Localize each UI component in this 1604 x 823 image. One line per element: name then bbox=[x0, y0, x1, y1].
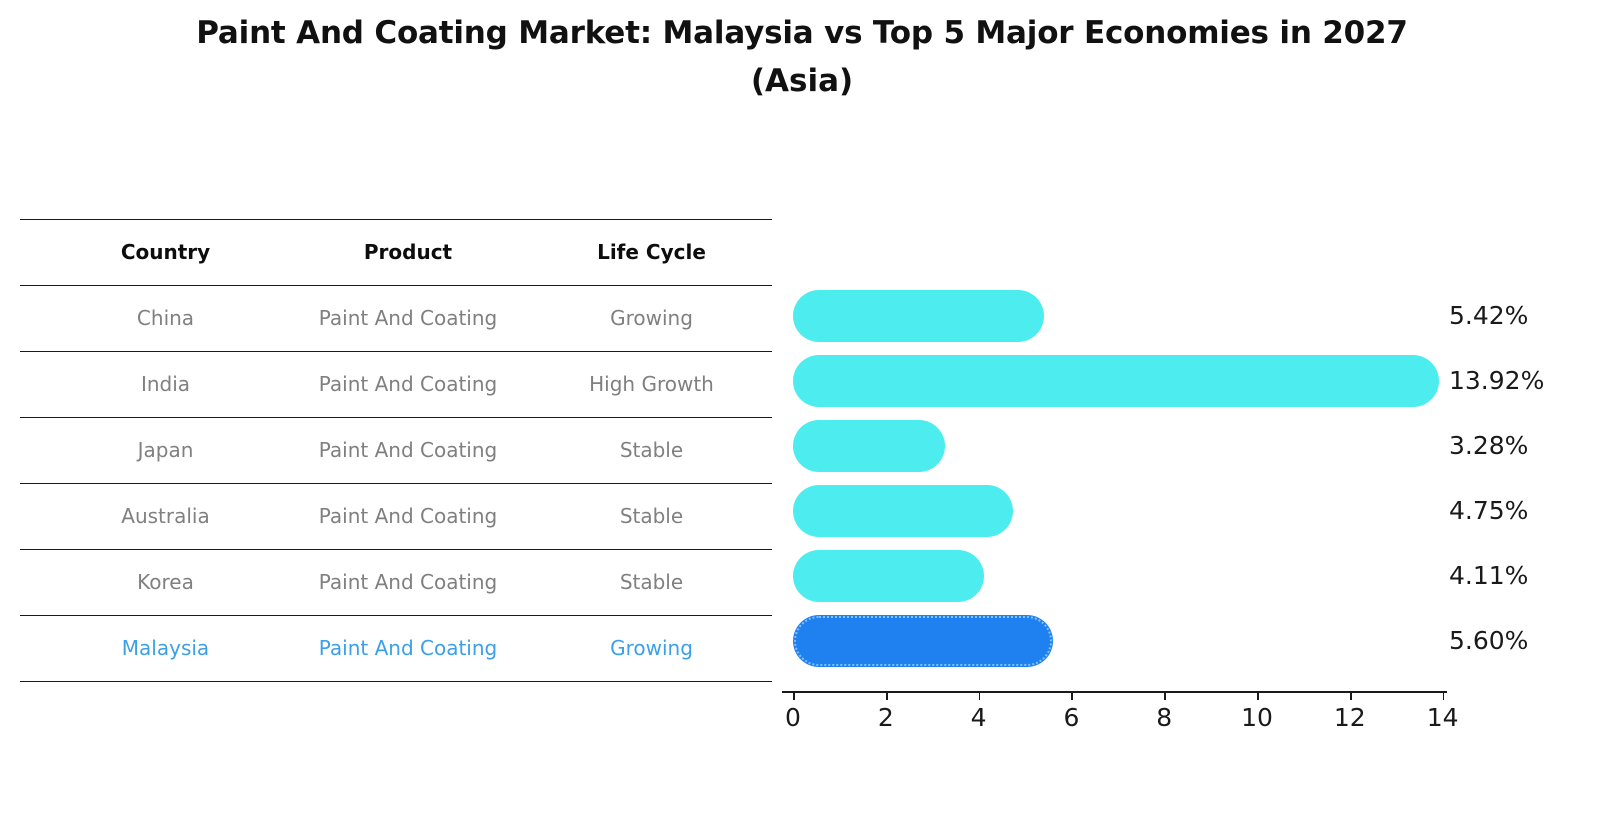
table-row[interactable]: Australia Paint And Coating Stable bbox=[20, 483, 772, 549]
x-tick-label: 4 bbox=[949, 701, 1009, 735]
page-subtitle: (Asia) bbox=[0, 62, 1604, 102]
x-tick-label: 14 bbox=[1413, 701, 1473, 735]
x-tick bbox=[1257, 691, 1259, 700]
cell-product: Paint And Coating bbox=[283, 352, 533, 417]
cell-life-cycle: Growing bbox=[533, 616, 770, 681]
cell-country: Japan bbox=[48, 418, 283, 483]
x-tick bbox=[979, 691, 981, 700]
x-tick bbox=[793, 691, 795, 700]
table-row[interactable]: China Paint And Coating Growing bbox=[20, 285, 772, 351]
x-axis-line bbox=[782, 691, 1447, 693]
column-header-life-cycle: Life Cycle bbox=[533, 220, 770, 285]
cell-country: Australia bbox=[48, 484, 283, 549]
x-tick bbox=[1071, 691, 1073, 700]
bar[interactable] bbox=[793, 290, 1044, 342]
x-tick-label: 8 bbox=[1134, 701, 1194, 735]
x-tick bbox=[886, 691, 888, 700]
page-title: Paint And Coating Market: Malaysia vs To… bbox=[0, 14, 1604, 54]
x-tick-label: 2 bbox=[856, 701, 916, 735]
table-row[interactable]: Korea Paint And Coating Stable bbox=[20, 549, 772, 615]
cell-country: India bbox=[48, 352, 283, 417]
table-row-highlighted[interactable]: Malaysia Paint And Coating Growing bbox=[20, 615, 772, 681]
cell-country: China bbox=[48, 286, 283, 351]
table-header-row: Country Product Life Cycle bbox=[20, 219, 772, 285]
title-block: Paint And Coating Market: Malaysia vs To… bbox=[0, 14, 1604, 101]
cell-life-cycle: High Growth bbox=[533, 352, 770, 417]
bar-value-label: 4.11% bbox=[1449, 550, 1528, 602]
bar-highlighted[interactable] bbox=[793, 615, 1053, 667]
cell-country: Malaysia bbox=[48, 616, 283, 681]
bar[interactable] bbox=[793, 485, 1013, 537]
cell-life-cycle: Stable bbox=[533, 418, 770, 483]
cell-life-cycle: Stable bbox=[533, 484, 770, 549]
cell-product: Paint And Coating bbox=[283, 418, 533, 483]
x-tick-label: 0 bbox=[763, 701, 823, 735]
x-tick bbox=[1443, 691, 1445, 700]
x-tick-label: 10 bbox=[1227, 701, 1287, 735]
x-tick-label: 6 bbox=[1041, 701, 1101, 735]
bar-value-label: 4.75% bbox=[1449, 485, 1528, 537]
country-table: Country Product Life Cycle China Paint A… bbox=[20, 219, 772, 682]
column-header-product: Product bbox=[283, 220, 533, 285]
cell-product: Paint And Coating bbox=[283, 286, 533, 351]
table-bottom-rule bbox=[20, 681, 772, 682]
table-row[interactable]: Japan Paint And Coating Stable bbox=[20, 417, 772, 483]
cell-life-cycle: Growing bbox=[533, 286, 770, 351]
bar-value-label: 13.92% bbox=[1449, 355, 1544, 407]
bar[interactable] bbox=[793, 550, 984, 602]
x-tick-label: 12 bbox=[1320, 701, 1380, 735]
bar[interactable] bbox=[793, 420, 945, 472]
bar[interactable] bbox=[793, 355, 1439, 407]
bar-value-label: 5.60% bbox=[1449, 615, 1528, 667]
x-tick bbox=[1164, 691, 1166, 700]
x-tick bbox=[1350, 691, 1352, 700]
table-row[interactable]: India Paint And Coating High Growth bbox=[20, 351, 772, 417]
cell-product: Paint And Coating bbox=[283, 550, 533, 615]
cell-product: Paint And Coating bbox=[283, 616, 533, 681]
cell-country: Korea bbox=[48, 550, 283, 615]
bar-value-label: 3.28% bbox=[1449, 420, 1528, 472]
bar-value-label: 5.42% bbox=[1449, 290, 1528, 342]
cell-product: Paint And Coating bbox=[283, 484, 533, 549]
column-header-country: Country bbox=[48, 220, 283, 285]
cell-life-cycle: Stable bbox=[533, 550, 770, 615]
